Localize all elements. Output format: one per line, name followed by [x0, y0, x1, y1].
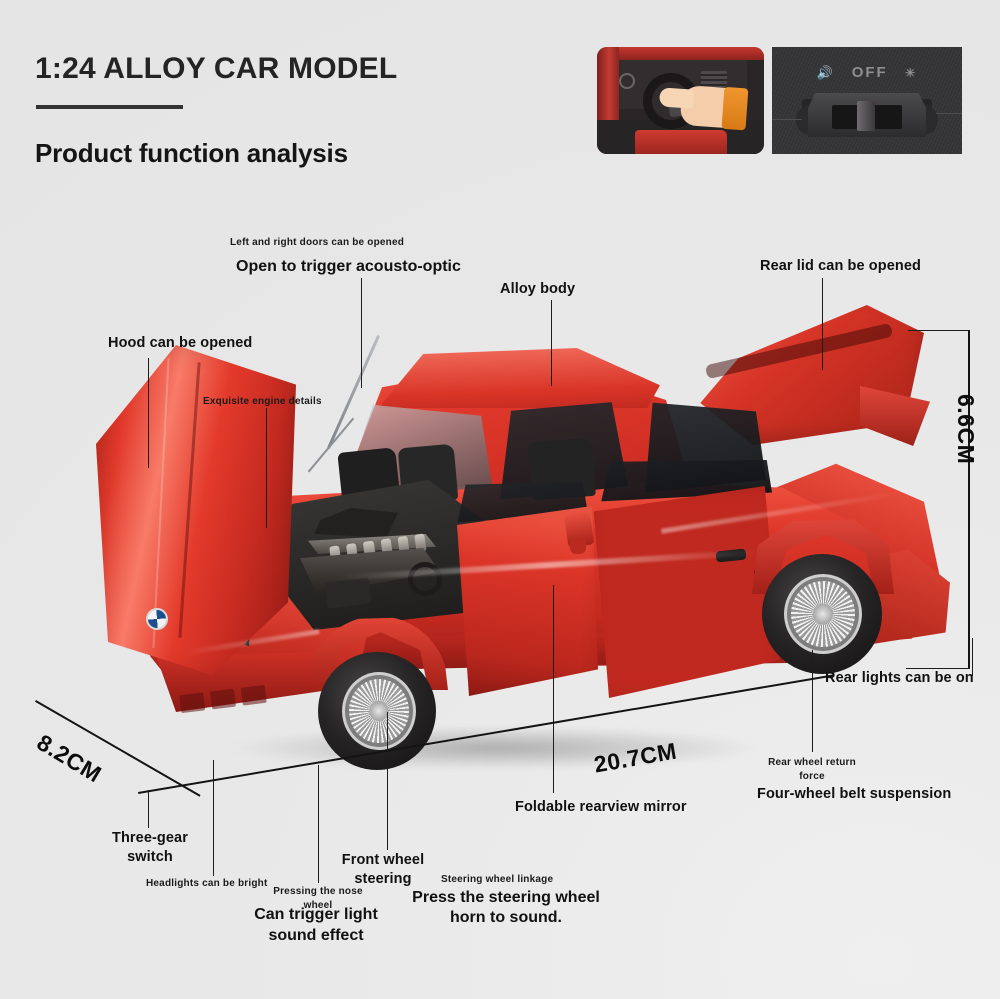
label-rear-lights: Rear lights can be on [825, 670, 974, 686]
label-front-wheel-line1: Front wheel [339, 852, 427, 868]
leader-line-doors [361, 278, 362, 388]
dimension-tick-height-top [908, 330, 970, 331]
label-horn-line2: horn to sound. [406, 909, 606, 927]
leader-line-hood [148, 358, 149, 468]
roof-panel [340, 348, 660, 408]
switch-knob[interactable] [857, 101, 875, 131]
label-engine-details: Exquisite engine details [203, 396, 322, 407]
page-subtitle: Product function analysis [35, 138, 348, 169]
label-front-wheel-line2: steering [339, 871, 427, 887]
label-rear-lid: Rear lid can be opened [760, 258, 921, 274]
rear-wheel-rim [784, 574, 862, 654]
title-underline [36, 105, 183, 109]
leader-line-nose-wheel [318, 765, 319, 883]
engine-assembly [290, 506, 460, 614]
hand-icon [680, 85, 745, 129]
battery-box [325, 577, 372, 608]
label-alloy-body: Alloy body [500, 281, 575, 297]
finger [659, 87, 694, 108]
leader-line-three-gear [148, 790, 149, 828]
speaker-icon: 🔊 [817, 65, 835, 81]
page-title: 1:24 ALLOY CAR MODEL [35, 52, 397, 86]
label-horn-line1: Press the steering wheel [406, 889, 606, 907]
label-hood: Hood can be opened [108, 335, 252, 351]
leader-line-alloy-body [551, 300, 552, 386]
roof-trim [617, 47, 764, 60]
intake-manifold [314, 508, 398, 538]
trunk-edge [860, 386, 930, 446]
thumbnail-strip: 🔊 OFF ☀ [597, 47, 962, 154]
dimension-height-value: 6.6CM [952, 394, 979, 464]
wire-right [936, 113, 962, 114]
sleeve-cuff [722, 87, 749, 131]
label-nose-wheel-line1: Pressing the nose [258, 886, 378, 897]
three-gear-switch-photo[interactable]: 🔊 OFF ☀ [772, 47, 962, 154]
headlight-icon: ☀ [905, 66, 918, 80]
dimension-tick-height-bottom [906, 668, 970, 669]
infographic-page: 1:24 ALLOY CAR MODEL Product function an… [0, 0, 1000, 999]
front-wheel-rim [342, 672, 416, 750]
ground-shadow [125, 718, 865, 778]
gauge-icon [619, 73, 635, 89]
mirror-stem [570, 540, 586, 554]
leader-line-mirror [553, 585, 554, 793]
label-suspension: Four-wheel belt suspension [757, 786, 951, 802]
label-rear-wheel-line1: Rear wheel return [752, 757, 872, 768]
label-doors: Left and right doors can be opened [230, 237, 404, 248]
label-light-sound-line1: Can trigger light [232, 906, 400, 924]
leader-line-engine [266, 408, 267, 528]
air-vent-icon [701, 71, 727, 87]
leader-line-headlights [213, 760, 214, 876]
label-acousto-optic: Open to trigger acousto-optic [236, 258, 461, 276]
leader-line-rear-lid [822, 278, 823, 370]
label-light-sound-line2: sound effect [232, 927, 400, 945]
seat [635, 130, 727, 154]
label-rear-wheel-line2: force [752, 771, 872, 782]
switch-legend: 🔊 OFF ☀ [772, 64, 962, 81]
steering-wheel-press-photo[interactable] [597, 47, 764, 154]
switch-off-label: OFF [852, 64, 888, 81]
dimension-line-height [968, 330, 970, 668]
label-headlights: Headlights can be bright [146, 878, 267, 889]
label-steering-linkage: Steering wheel linkage [441, 874, 553, 885]
leader-line-front-wheel [387, 712, 388, 850]
label-three-gear-line2: switch [105, 849, 195, 865]
label-rearview-mirror: Foldable rearview mirror [515, 799, 687, 815]
wire-left [772, 119, 802, 120]
label-three-gear-line1: Three-gear [105, 830, 195, 846]
leader-line-rear-wheel [812, 650, 813, 752]
belt-pulley [408, 562, 442, 596]
